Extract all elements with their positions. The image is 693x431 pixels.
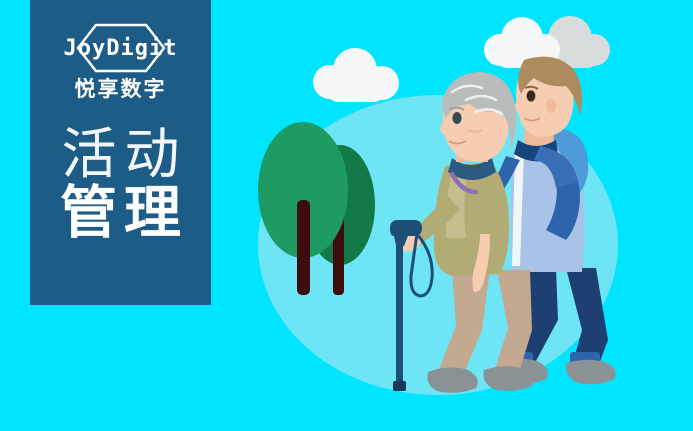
poster-canvas: JoyDigit 悦享数字 活动 管理 bbox=[0, 0, 693, 431]
man-ear bbox=[546, 99, 556, 113]
logo: JoyDigit 悦享数字 bbox=[63, 22, 179, 100]
brand-panel: JoyDigit 悦享数字 活动 管理 bbox=[30, 0, 211, 305]
cane-tip bbox=[393, 381, 406, 391]
man-eye bbox=[527, 90, 536, 101]
page-title: 活动 管理 bbox=[53, 126, 188, 242]
woman-eye bbox=[452, 112, 461, 124]
logo-wordmark: JoyDigit bbox=[63, 22, 179, 74]
page-title-line2: 管理 bbox=[53, 184, 188, 242]
page-title-line1: 活动 bbox=[53, 126, 188, 182]
logo-mark: JoyDigit bbox=[63, 22, 179, 74]
logo-chinese-name: 悦享数字 bbox=[75, 79, 167, 100]
cane-shaft bbox=[396, 240, 403, 385]
